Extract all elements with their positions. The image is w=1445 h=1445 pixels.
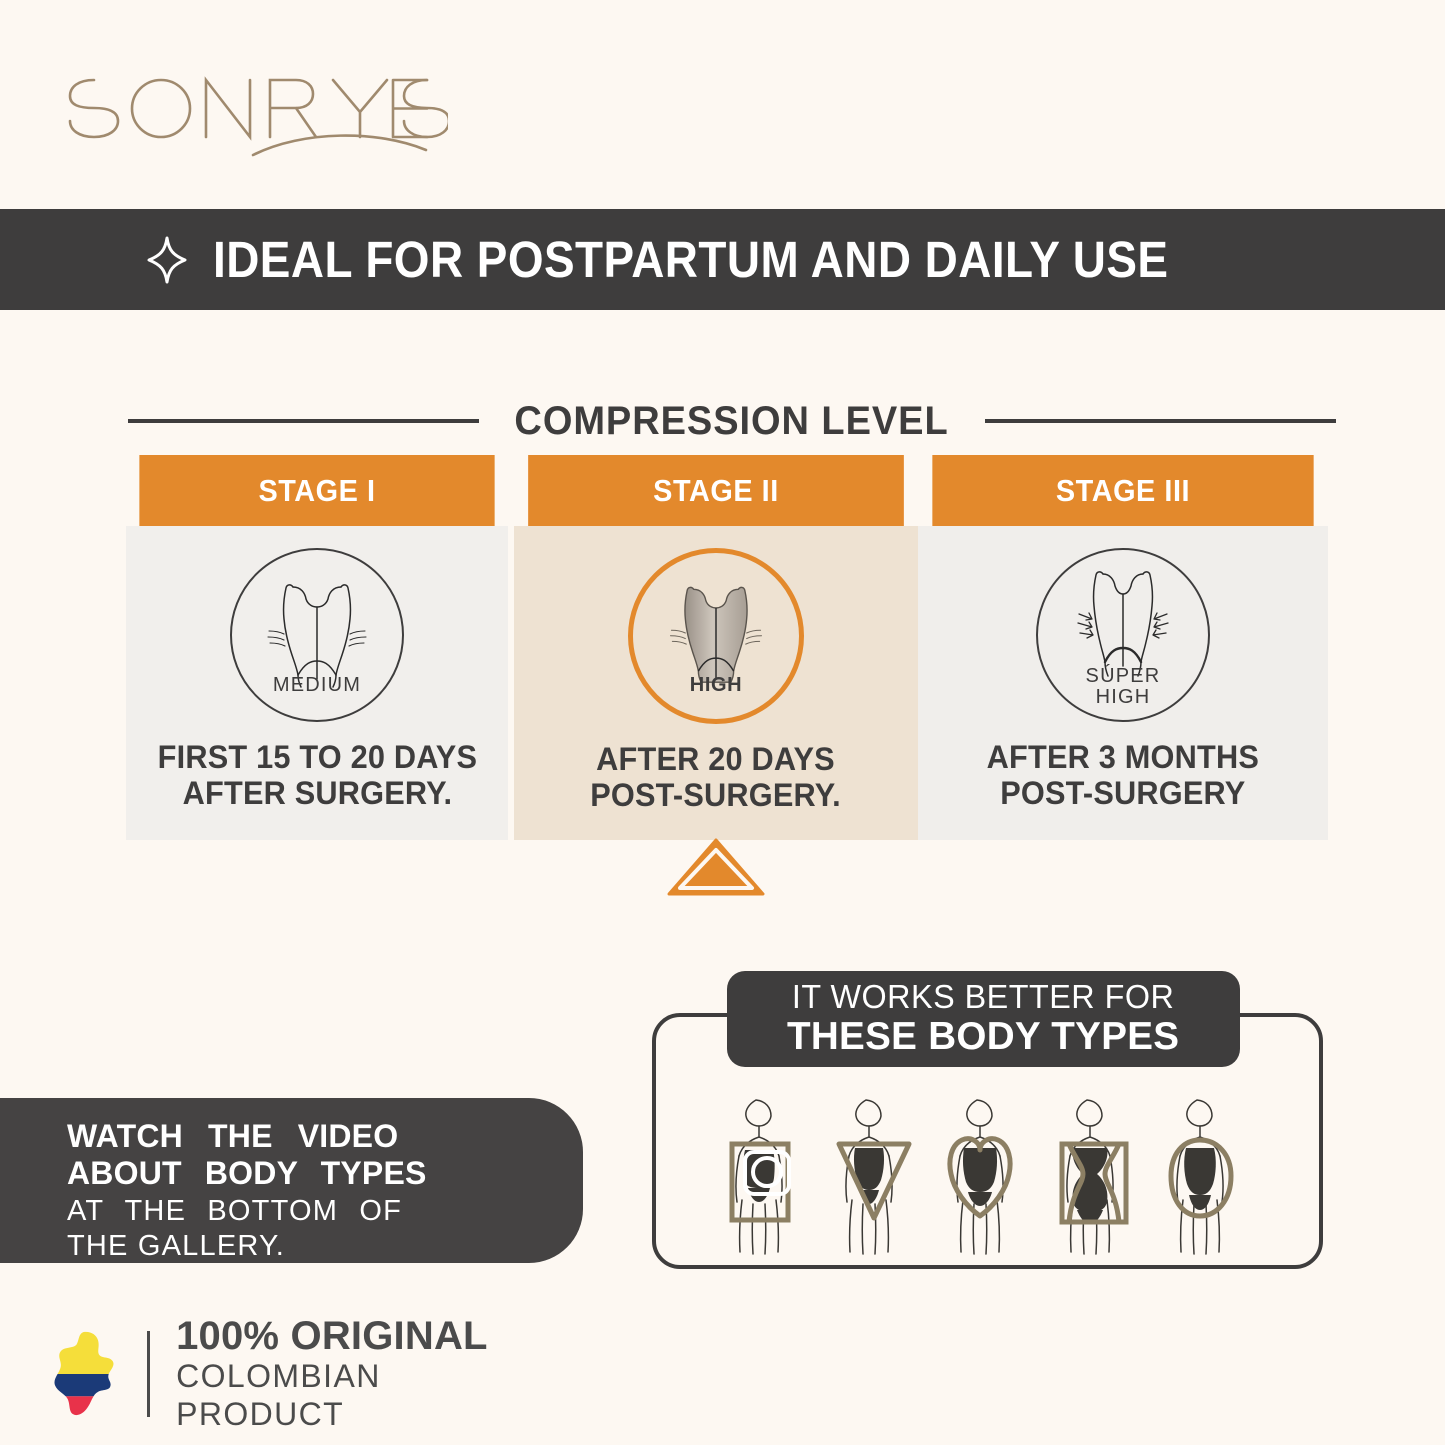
- origin-badge: 100% ORIGINAL COLOMBIAN PRODUCT: [48, 1318, 518, 1430]
- stage-2-description: AFTER 20 DAYS POST-SURGERY.: [591, 742, 842, 814]
- torso-compression-icon-arrows: [1067, 562, 1179, 680]
- torso-compression-icon-filled: [664, 577, 768, 689]
- stage-1-header-label: STAGE I: [258, 473, 375, 509]
- stage-2-body: HIGH AFTER 20 DAYS POST-SURGERY.: [514, 526, 918, 840]
- body-types-badge: IT WORKS BETTER FOR THESE BODY TYPES: [727, 971, 1240, 1067]
- round-body-type-icon[interactable]: [1153, 1092, 1257, 1257]
- infographic-page: IDEAL FOR POSTPARTUM AND DAILY USE COMPR…: [0, 0, 1445, 1445]
- stage-2-header: STAGE II: [528, 455, 904, 526]
- watch-video-bold-line1: WATCH THE VIDEO: [67, 1118, 583, 1155]
- banner-title: IDEAL FOR POSTPARTUM AND DAILY USE: [213, 234, 1168, 285]
- origin-line2: COLOMBIAN PRODUCT: [176, 1358, 518, 1432]
- stage-3-description-line1: AFTER 3 MONTHS: [987, 740, 1259, 776]
- stage-1-icon-circle: MEDIUM: [230, 548, 404, 722]
- stage-1-header: STAGE I: [139, 455, 494, 526]
- selected-stage-pointer-icon: [667, 838, 765, 896]
- stage-2-icon-circle: HIGH: [628, 548, 804, 724]
- heading-rule-right: [985, 419, 1336, 423]
- origin-line1: 100% ORIGINAL: [176, 1315, 518, 1358]
- stage-cards: STAGE I: [126, 455, 1334, 840]
- stage-1-description: FIRST 15 TO 20 DAYS AFTER SURGERY.: [157, 740, 477, 812]
- stage-3-body: SÚPER HIGH AFTER 3 MONTHS POST-SURGERY: [918, 526, 1328, 840]
- stage-card-1[interactable]: STAGE I: [126, 455, 508, 840]
- stage-3-header-label: STAGE III: [1056, 473, 1190, 509]
- stage-1-description-line1: FIRST 15 TO 20 DAYS: [157, 740, 477, 776]
- brand-logo: [48, 62, 448, 172]
- body-type-figures: [712, 1092, 1257, 1257]
- stage-3-level-label: SÚPER HIGH: [1086, 666, 1161, 708]
- body-types-badge-line2: THESE BODY TYPES: [787, 1016, 1179, 1058]
- stage-2-level-label: HIGH: [690, 675, 742, 696]
- stage-1-level-label: MEDIUM: [273, 675, 361, 696]
- apple-body-type-icon[interactable]: [933, 1092, 1037, 1257]
- colombia-map-flag-icon: [48, 1324, 119, 1424]
- stage-3-description-line2: POST-SURGERY: [987, 776, 1259, 812]
- stage-3-description: AFTER 3 MONTHS POST-SURGERY: [987, 740, 1259, 812]
- watch-video-light-line2: THE GALLERY.: [67, 1229, 583, 1264]
- stage-3-header: STAGE III: [932, 455, 1313, 526]
- rectangle-body-type-icon[interactable]: [712, 1092, 816, 1257]
- watch-video-panel[interactable]: WATCH THE VIDEO ABOUT BODY TYPES AT THE …: [0, 1098, 583, 1263]
- stage-1-body: MEDIUM FIRST 15 TO 20 DAYS AFTER SURGERY…: [126, 526, 508, 840]
- compression-level-heading: COMPRESSION LEVEL: [128, 392, 1336, 450]
- header-banner: IDEAL FOR POSTPARTUM AND DAILY USE: [0, 209, 1445, 310]
- four-point-star-icon: [147, 236, 187, 284]
- stage-1-description-line2: AFTER SURGERY.: [157, 776, 477, 812]
- stage-card-2[interactable]: STAGE II: [514, 455, 918, 840]
- body-types-badge-line1: IT WORKS BETTER FOR: [792, 980, 1174, 1013]
- heading-rule-left: [128, 419, 479, 423]
- sonryse-logotype: [48, 62, 448, 172]
- stage-2-header-label: STAGE II: [653, 473, 779, 509]
- watch-video-bold-line2: ABOUT BODY TYPES: [67, 1155, 583, 1192]
- inverted-triangle-body-type-icon[interactable]: [822, 1092, 926, 1257]
- stage-card-3[interactable]: STAGE III: [918, 455, 1328, 840]
- stage-3-level-line2: HIGH: [1086, 687, 1161, 708]
- stage-3-level-line1: SÚPER: [1086, 666, 1161, 687]
- origin-divider: [147, 1331, 150, 1417]
- watch-video-light-line1: AT THE BOTTOM OF: [67, 1194, 583, 1229]
- stage-3-icon-circle: SÚPER HIGH: [1036, 548, 1210, 722]
- stage-2-description-line2: POST-SURGERY.: [591, 778, 842, 814]
- hourglass-body-type-icon[interactable]: [1043, 1092, 1147, 1257]
- stage-2-description-line1: AFTER 20 DAYS: [591, 742, 842, 778]
- compression-level-title: COMPRESSION LEVEL: [515, 399, 949, 444]
